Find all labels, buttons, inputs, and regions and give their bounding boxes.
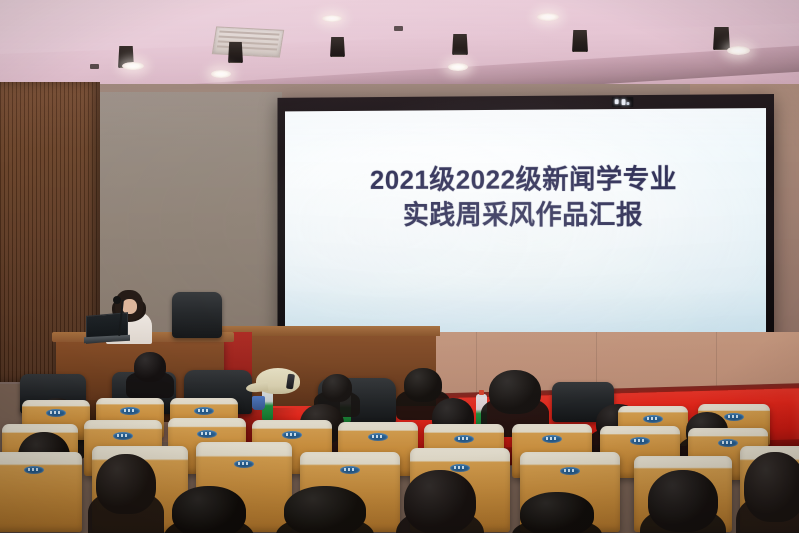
- audience-head: [489, 370, 541, 414]
- ceiling-downlight-icon: [727, 46, 750, 55]
- slide-title-line-2: 实践周采风作品汇报: [285, 198, 766, 234]
- audience-head: [284, 486, 366, 533]
- ceiling-spotlight-icon: [330, 37, 345, 57]
- ceiling-downlight-icon: [211, 70, 231, 78]
- audience-head: [322, 374, 352, 402]
- seat-number-plate: [724, 413, 744, 421]
- cup: [252, 396, 265, 410]
- seat-number-plate: [340, 466, 360, 474]
- audience-head: [172, 486, 246, 533]
- seat-number-plate: [643, 415, 663, 423]
- lecture-hall-photo: 2021级2022级新闻学专业 实践周采风作品汇报: [0, 0, 799, 533]
- seat-number-plate: [46, 409, 66, 417]
- slide-title-line-1: 2021级2022级新闻学专业: [285, 162, 766, 198]
- seat-number-plate: [454, 435, 474, 443]
- ceiling-spotlight-icon: [572, 30, 588, 52]
- seat-number-plate: [113, 432, 133, 440]
- microphone-icon: [113, 296, 121, 304]
- projection-screen-surface: 2021级2022级新闻学专业 实践周采风作品汇报: [285, 108, 766, 336]
- audience-head: [134, 352, 166, 382]
- audience-head: [404, 368, 442, 402]
- screen-camera-icon: [612, 97, 634, 107]
- seat-number-plate: [560, 467, 580, 475]
- seat-number-plate: [120, 407, 140, 415]
- seat-number-plate: [630, 437, 650, 445]
- seat-number-plate: [24, 466, 44, 474]
- audience-head: [404, 470, 476, 533]
- seat-number-plate: [718, 439, 738, 447]
- seat-number-plate: [197, 430, 217, 438]
- ceiling-spotlight-icon: [228, 42, 243, 63]
- air-vent-icon: [212, 26, 284, 57]
- audience-head: [520, 492, 594, 533]
- audience-head: [648, 470, 718, 532]
- auditorium-seat: [0, 452, 82, 532]
- ceiling-sensor-icon: [90, 64, 99, 69]
- ceiling-spotlight-icon: [452, 34, 468, 55]
- audience-head: [96, 454, 156, 514]
- ceiling-downlight-icon: [322, 15, 342, 22]
- office-chair: [172, 292, 222, 338]
- seat-number-plate: [234, 460, 254, 468]
- projection-screen-frame: 2021级2022级新闻学专业 实践周采风作品汇报: [277, 94, 774, 360]
- ceiling-downlight-icon: [537, 13, 559, 21]
- ceiling-spotlight-icon: [713, 27, 730, 50]
- seat-number-plate: [368, 433, 388, 441]
- ceiling-sensor-icon: [394, 26, 403, 31]
- ceiling-downlight-icon: [448, 63, 468, 71]
- seat-number-plate: [542, 435, 562, 443]
- audience-head: [744, 452, 799, 522]
- ceiling-downlight-icon: [122, 62, 144, 70]
- seat-number-plate: [194, 407, 214, 415]
- seat-number-plate: [282, 431, 302, 439]
